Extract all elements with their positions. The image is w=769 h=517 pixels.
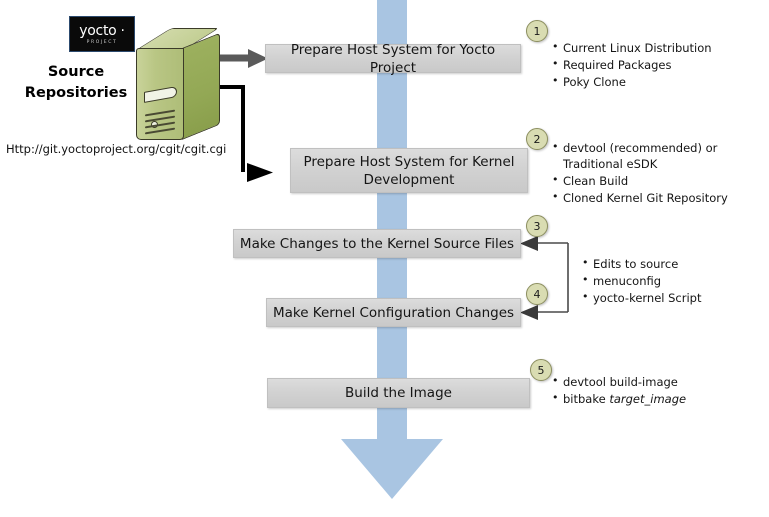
- yocto-logo-wordmark: yocto ·: [79, 24, 124, 38]
- source-repositories-label: Source Repositories: [16, 62, 136, 104]
- server-vent-line: [145, 128, 175, 134]
- notes-step2: devtool (recommended) or Traditional eSD…: [552, 140, 757, 207]
- step-number-4: 4: [526, 283, 548, 305]
- step-number-1: 1: [526, 20, 548, 42]
- source-repository-url: Http://git.yoctoproject.org/cgit/cgit.cg…: [6, 142, 226, 156]
- source-title-line1: Source: [16, 62, 136, 83]
- note-item: bitbake target_image: [552, 391, 762, 407]
- process-box-step4[interactable]: Make Kernel Configuration Changes: [266, 298, 521, 327]
- server-vent-line: [145, 110, 175, 116]
- note-item: Current Linux Distribution: [552, 40, 762, 56]
- note-item: Poky Clone: [552, 74, 762, 90]
- yocto-project-logo: yocto · PROJECT: [69, 16, 135, 52]
- flow-arrowhead-icon: [341, 439, 443, 499]
- note-item: Edits to source: [582, 256, 762, 272]
- step-number-5: 5: [530, 359, 552, 381]
- note-item: Required Packages: [552, 57, 762, 73]
- server-vent-line: [145, 116, 175, 122]
- server-vent-line: [145, 122, 175, 128]
- note-item: yocto-kernel Script: [582, 290, 762, 306]
- yocto-logo-subword: PROJECT: [87, 39, 118, 46]
- process-box-step5[interactable]: Build the Image: [267, 378, 530, 408]
- server-front-face: [136, 48, 184, 140]
- process-box-step1[interactable]: Prepare Host System for Yocto Project: [265, 44, 521, 73]
- note-item: devtool build-image: [552, 374, 762, 390]
- step-number-2: 2: [526, 128, 548, 150]
- note-item: Clean Build: [552, 173, 757, 189]
- server-drive-slot: [144, 86, 177, 103]
- process-box-step2[interactable]: Prepare Host System for Kernel Developme…: [290, 148, 528, 193]
- arrow-server-to-step2: [216, 87, 273, 182]
- notes-step1: Current Linux DistributionRequired Packa…: [552, 40, 762, 91]
- notes-step3-step4: Edits to sourcemenuconfigyocto-kernel Sc…: [582, 256, 762, 307]
- source-title-line2: Repositories: [16, 83, 136, 104]
- server-tower-icon: [136, 28, 222, 140]
- note-item: devtool (recommended) or Traditional eSD…: [552, 140, 757, 172]
- step-number-3: 3: [526, 215, 548, 237]
- notes-step5: devtool build-imagebitbake target_image: [552, 374, 762, 408]
- process-box-step3[interactable]: Make Changes to the Kernel Source Files: [233, 229, 521, 258]
- server-side-face: [182, 33, 220, 140]
- note-item: menuconfig: [582, 273, 762, 289]
- arrow-server-to-step1: [216, 49, 268, 68]
- note-item: Cloned Kernel Git Repository: [552, 190, 757, 206]
- connector-notes-to-step3-step4: [520, 236, 568, 320]
